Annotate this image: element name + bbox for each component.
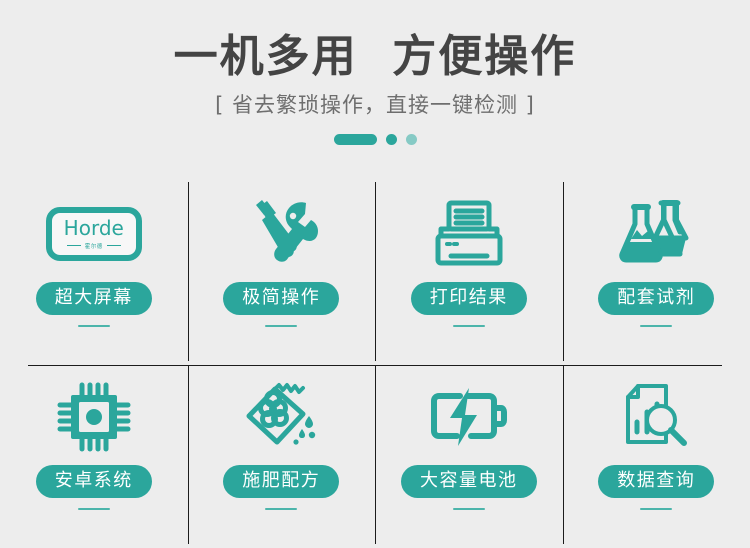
printer-icon — [427, 194, 511, 274]
horde-logo-subline: 霍尔德 — [67, 241, 121, 250]
feature-label-android-system[interactable]: 安卓系统 — [36, 465, 152, 498]
feature-underline — [453, 508, 485, 510]
feature-label-big-screen[interactable]: 超大屏幕 — [36, 282, 152, 315]
feature-label-print-result[interactable]: 打印结果 — [411, 282, 527, 315]
feature-underline — [640, 325, 672, 327]
feature-grid: Horde 霍尔德 超大屏幕 — [0, 182, 750, 547]
fertilizer-bag-flower-icon — [239, 377, 323, 457]
page-header: 一机多用 方便操作 [ 省去繁琐操作，直接一键检测 ] — [0, 0, 750, 119]
feature-row-1: Horde 霍尔德 超大屏幕 — [0, 182, 750, 365]
feature-label-large-battery[interactable]: 大容量电池 — [401, 465, 537, 498]
page-subtitle: [ 省去繁琐操作，直接一键检测 ] — [0, 89, 750, 119]
flasks-icon — [614, 194, 698, 274]
feature-cell-simple-operation[interactable]: 极简操作 — [188, 182, 376, 365]
feature-cell-fertilizer-formula[interactable]: 施肥配方 — [188, 365, 376, 548]
feature-row-2: 安卓系统 — [0, 365, 750, 548]
feature-underline — [640, 508, 672, 510]
feature-underline — [78, 508, 110, 510]
feature-underline — [453, 325, 485, 327]
carousel-indicator-2[interactable] — [386, 134, 397, 145]
feature-cell-large-battery[interactable]: 大容量电池 — [375, 365, 563, 548]
feature-underline — [78, 325, 110, 327]
horde-logo-rule-left — [67, 245, 81, 246]
feature-label-reagents[interactable]: 配套试剂 — [598, 282, 714, 315]
feature-underline — [265, 325, 297, 327]
document-chart-search-icon — [616, 377, 696, 457]
feature-cell-reagents[interactable]: 配套试剂 — [563, 182, 750, 365]
horde-logo-cn-text: 霍尔德 — [85, 241, 103, 249]
feature-label-fertilizer-formula[interactable]: 施肥配方 — [223, 465, 339, 498]
feature-cell-android-system[interactable]: 安卓系统 — [0, 365, 188, 548]
horde-logo-icon: Horde 霍尔德 — [46, 194, 142, 274]
feature-label-simple-operation[interactable]: 极简操作 — [223, 282, 339, 315]
horde-logo-rule-right — [107, 245, 121, 246]
carousel-indicator-3[interactable] — [406, 134, 417, 145]
feature-cell-print-result[interactable]: 打印结果 — [375, 182, 563, 365]
battery-charging-icon — [427, 377, 511, 457]
carousel-indicator-active[interactable] — [334, 134, 377, 145]
feature-cell-data-query[interactable]: 数据查询 — [563, 365, 750, 548]
feature-cell-big-screen[interactable]: Horde 霍尔德 超大屏幕 — [0, 182, 188, 365]
horde-logo-word: Horde — [64, 218, 124, 238]
wrench-screwdriver-icon — [243, 194, 319, 274]
cpu-chip-icon — [56, 377, 132, 457]
feature-label-data-query[interactable]: 数据查询 — [598, 465, 714, 498]
page-title: 一机多用 方便操作 — [0, 34, 750, 80]
feature-underline — [265, 508, 297, 510]
carousel-indicators[interactable] — [0, 132, 750, 146]
